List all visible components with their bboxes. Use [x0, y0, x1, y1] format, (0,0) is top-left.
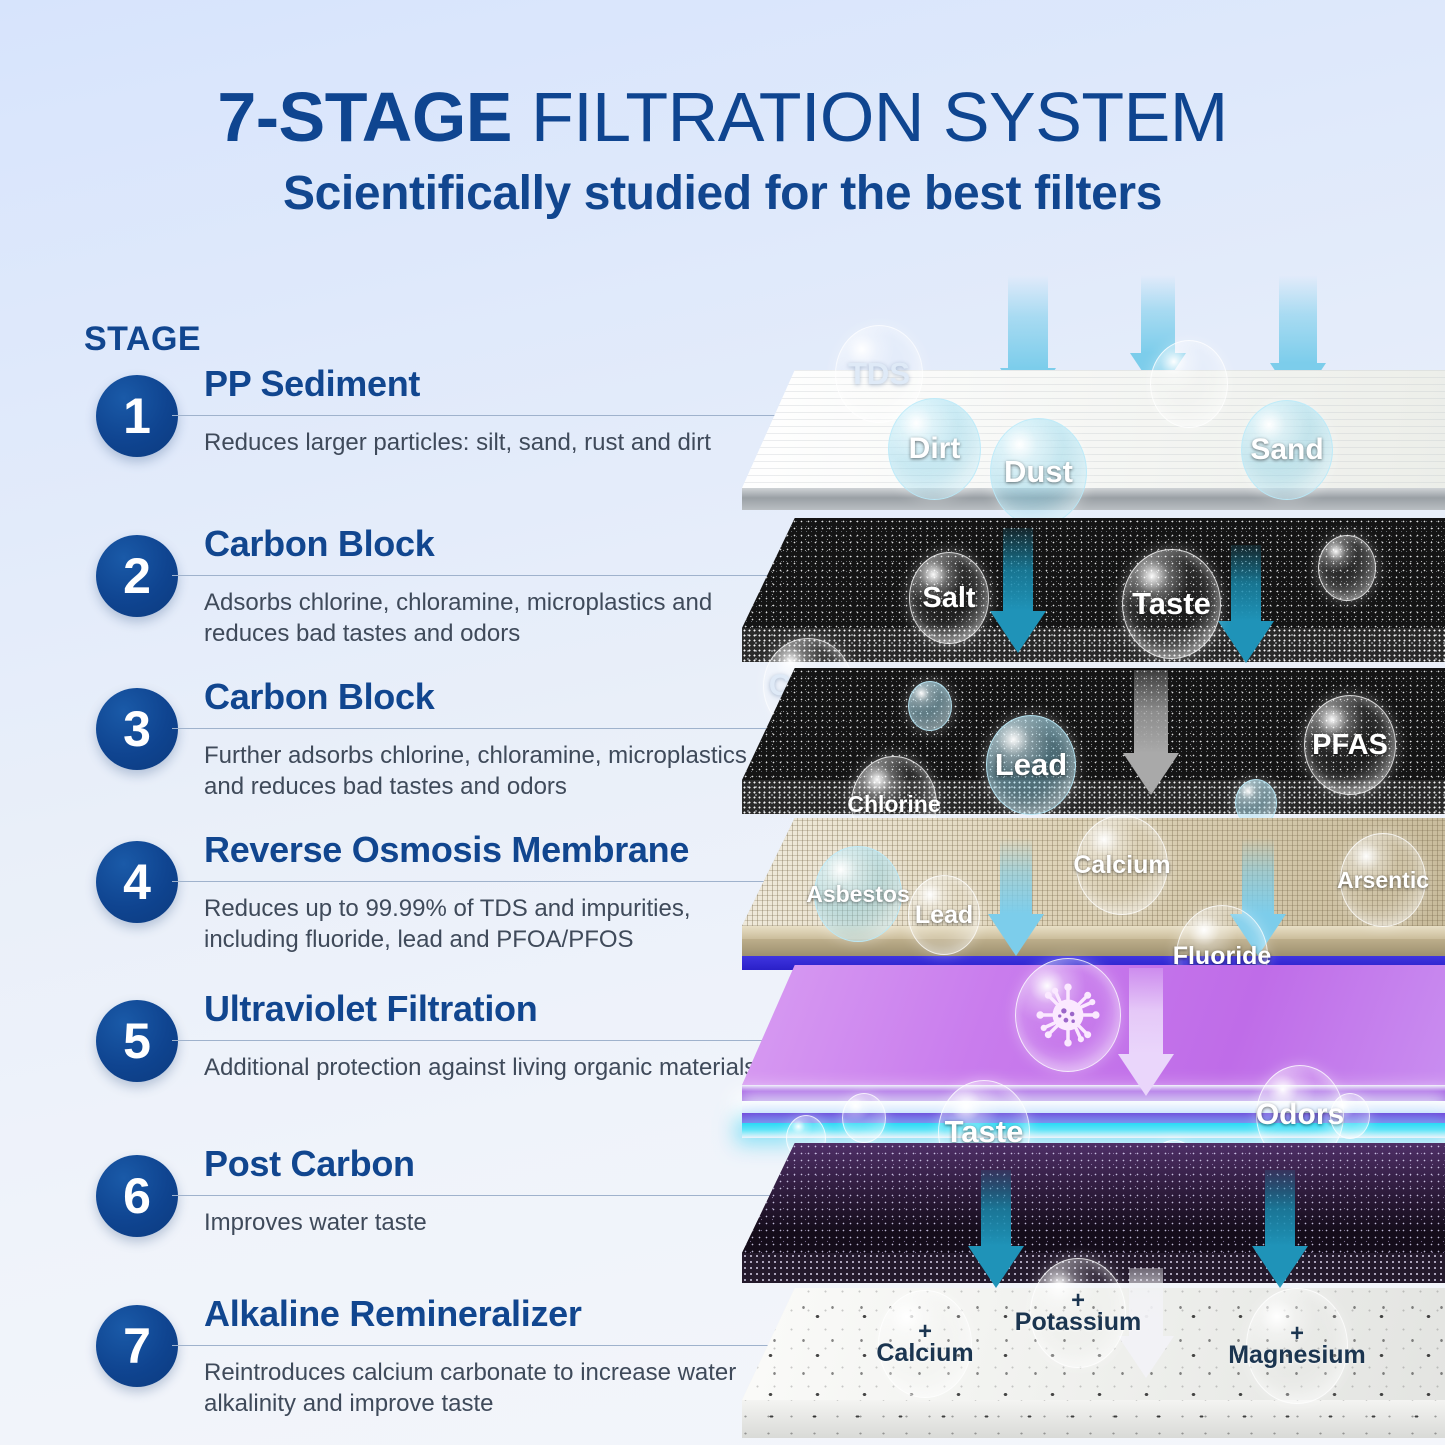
stage-title-7: Alkaline Remineralizer — [204, 1293, 582, 1335]
stage-desc-6: Improves water taste — [204, 1207, 764, 1238]
stage-desc-3: Further adsorbs chlorine, chloramine, mi… — [204, 740, 764, 802]
bubble-plain-7 — [1330, 1093, 1370, 1139]
flow-arrow-teal-3 — [968, 1170, 1024, 1288]
flow-arrow-grey-1 — [1120, 670, 1182, 795]
bubble-magnesium-label: Magnesium — [1228, 1343, 1366, 1368]
flow-arrow-lavender-1 — [1115, 968, 1177, 1096]
bubble-magnesium: +Magnesium — [1246, 1288, 1348, 1404]
stage-title-3: Carbon Block — [204, 676, 434, 718]
filtration-stack-illustration: TDS Dirt Dust Sand Salt Taste Color Lead… — [690, 0, 1445, 1445]
bubble-virus — [1015, 958, 1121, 1072]
bubble-salt: Salt — [909, 552, 989, 644]
stage-badge-7: 7 — [96, 1305, 178, 1387]
stage-badge-5: 5 — [96, 1000, 178, 1082]
title-bold-part: 7-STAGE — [217, 78, 512, 156]
bubble-lead-1: Lead — [986, 715, 1076, 815]
stage-badge-4: 4 — [96, 841, 178, 923]
stage-title-1: PP Sediment — [204, 363, 420, 405]
flow-arrow-cyan-4 — [988, 838, 1044, 956]
bubble-dirt: Dirt — [888, 398, 981, 500]
flow-arrow-teal-1 — [990, 528, 1046, 653]
flow-arrow-teal-2 — [1218, 545, 1274, 663]
bubble-plain-5 — [842, 1093, 886, 1143]
bubble-sand: Sand — [1241, 400, 1333, 500]
bubble-plain-3 — [908, 681, 952, 731]
stage-badge-2: 2 — [96, 535, 178, 617]
stage-title-5: Ultraviolet Filtration — [204, 988, 537, 1030]
bubble-calcium-2: +Calcium — [878, 1290, 972, 1398]
stage-column-label: STAGE — [84, 320, 201, 359]
stage-desc-7: Reintroduces calcium carbonate to increa… — [204, 1357, 764, 1419]
stage-title-4: Reverse Osmosis Membrane — [204, 829, 689, 871]
stage-desc-1: Reduces larger particles: silt, sand, ru… — [204, 427, 764, 458]
bubble-potassium: +Potassium — [1030, 1258, 1126, 1368]
bubble-asbestos: Asbestos — [814, 846, 902, 942]
stage-title-6: Post Carbon — [204, 1143, 415, 1185]
bubble-pfas: PFAS — [1304, 695, 1396, 795]
virus-icon — [1016, 959, 1120, 1071]
stage-desc-2: Adsorbs chlorine, chloramine, microplast… — [204, 587, 764, 649]
stage-badge-6: 6 — [96, 1155, 178, 1237]
bubble-taste-1: Taste — [1122, 549, 1221, 659]
stage-desc-5: Additional protection against living org… — [204, 1052, 764, 1083]
stage-title-2: Carbon Block — [204, 523, 434, 565]
bubble-dust: Dust — [990, 418, 1087, 526]
bubble-plain-2 — [1318, 535, 1376, 601]
bubble-potassium-label: Potassium — [1015, 1310, 1141, 1335]
bubble-calcium-2-label: Calcium — [876, 1341, 973, 1366]
stage-desc-4: Reduces up to 99.99% of TDS and impuriti… — [204, 893, 764, 955]
stage-badge-3: 3 — [96, 688, 178, 770]
bubble-plain-1 — [1150, 340, 1228, 428]
stage-badge-1: 1 — [96, 375, 178, 457]
bubble-calcium-1: Calcium — [1076, 815, 1168, 915]
bubble-lead-2: Lead — [908, 875, 980, 955]
flow-arrow-teal-4 — [1252, 1170, 1308, 1288]
bubble-arsentic: Arsentic — [1340, 833, 1426, 927]
